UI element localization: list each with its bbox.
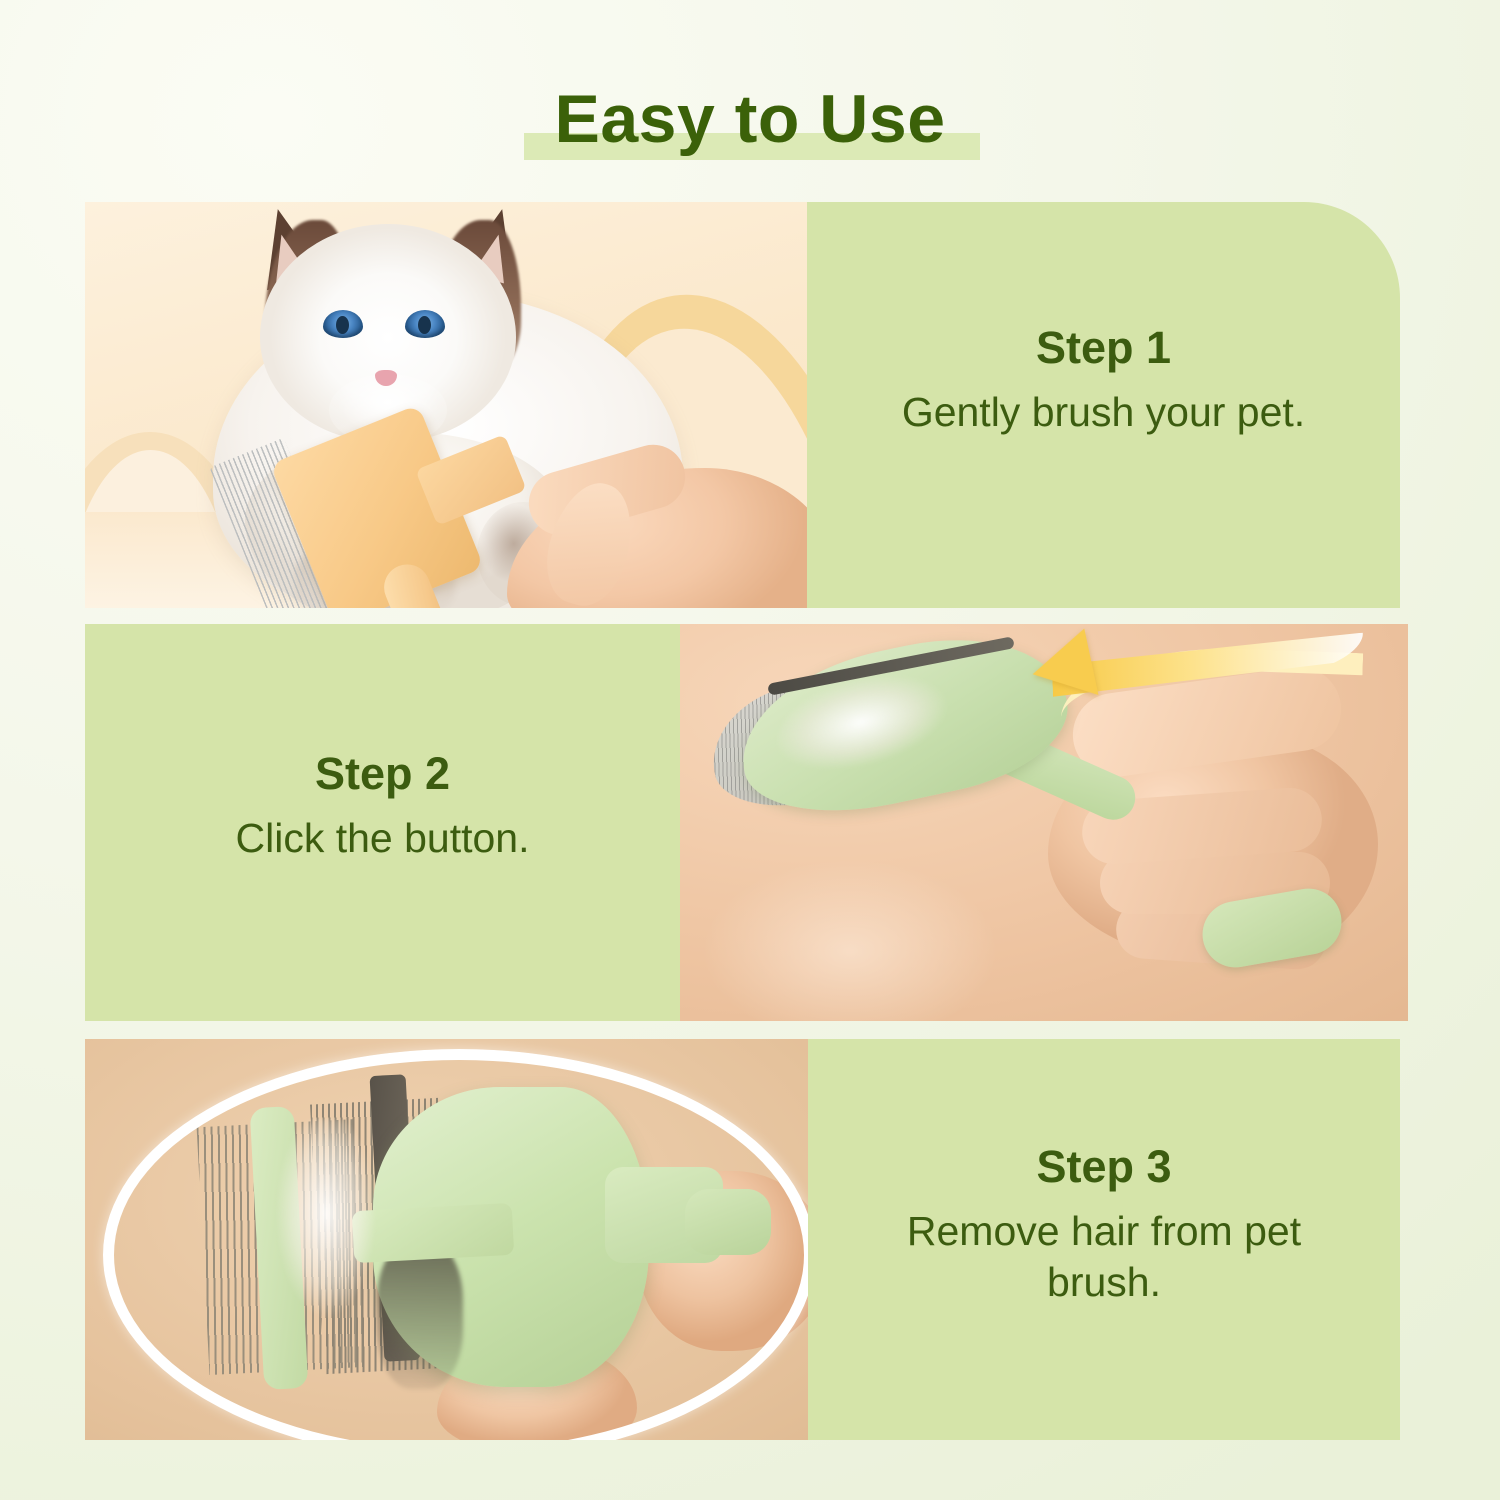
infographic-page: Easy to Use bbox=[0, 0, 1500, 1500]
step-2-text-block: Step 2 Click the button. bbox=[85, 750, 680, 864]
photo-2-glow bbox=[680, 821, 1060, 1021]
step-1-text-panel: Step 1 Gently brush your pet. bbox=[807, 202, 1400, 608]
step-2-photo bbox=[680, 624, 1408, 1021]
photo-3-background bbox=[85, 1039, 808, 1440]
cat-pupil-right bbox=[418, 316, 431, 334]
page-title-wrapper: Easy to Use bbox=[0, 74, 1500, 164]
cat-pupil-left bbox=[336, 316, 349, 334]
step-2-title: Step 2 bbox=[125, 750, 640, 797]
photo-1-background bbox=[85, 202, 807, 608]
step-3-text-block: Step 3 Remove hair from pet brush. bbox=[808, 1143, 1400, 1308]
cat-eye-right bbox=[405, 310, 445, 338]
step-3-photo bbox=[85, 1039, 808, 1440]
step-1-text-block: Step 1 Gently brush your pet. bbox=[807, 324, 1400, 438]
step-1-title: Step 1 bbox=[847, 324, 1360, 371]
step-1-photo bbox=[85, 202, 807, 608]
white-oval-highlight bbox=[103, 1049, 808, 1440]
arrow-head-icon bbox=[1026, 629, 1099, 708]
step-3-text-panel: Step 3 Remove hair from pet brush. bbox=[808, 1039, 1400, 1440]
photo-2-background bbox=[680, 624, 1408, 1021]
step-3-title: Step 3 bbox=[848, 1143, 1360, 1190]
step-2-description: Click the button. bbox=[125, 813, 640, 864]
step-2-text-panel: Step 2 Click the button. bbox=[85, 624, 680, 1021]
step-3-description: Remove hair from pet brush. bbox=[848, 1206, 1360, 1308]
cat-eye-left bbox=[323, 310, 363, 338]
page-title: Easy to Use bbox=[554, 74, 945, 164]
step-1-description: Gently brush your pet. bbox=[847, 387, 1360, 438]
